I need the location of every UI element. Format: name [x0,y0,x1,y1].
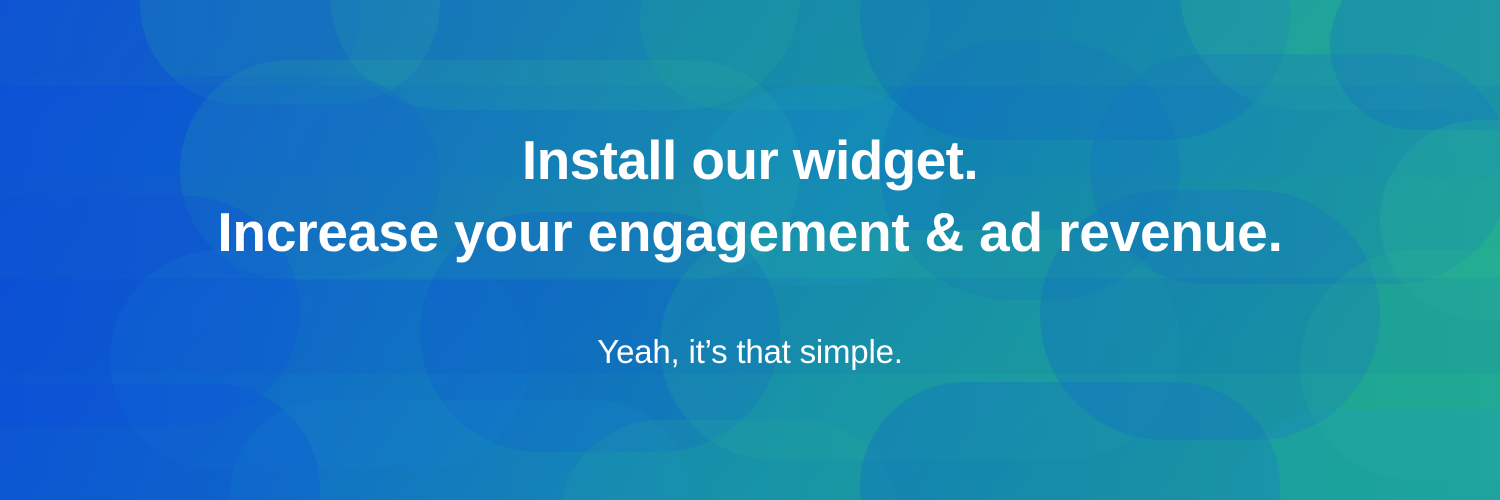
decorative-background [0,0,1500,500]
blue-wash [0,0,1500,500]
promo-banner: Install our widget. Increase your engage… [0,0,1500,500]
